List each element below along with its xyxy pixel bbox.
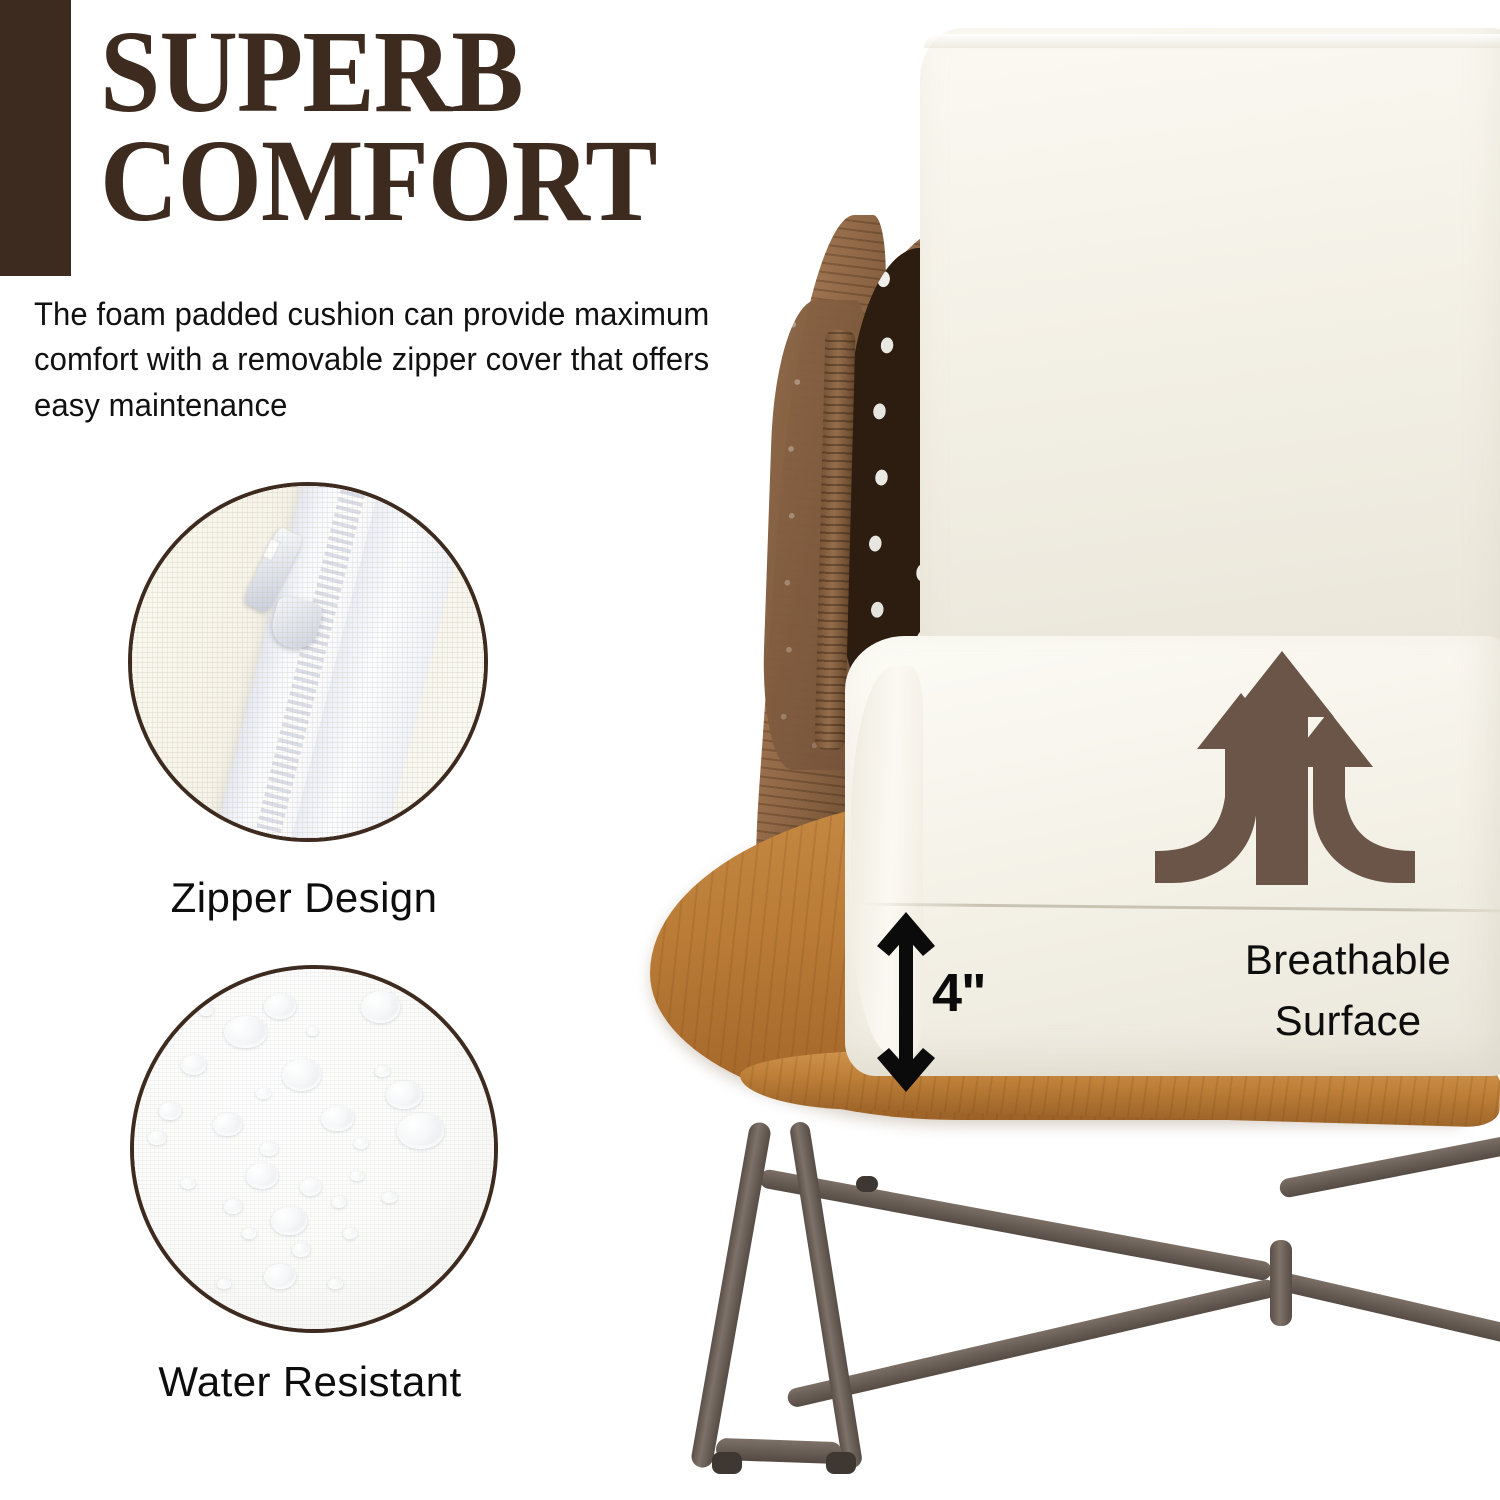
page-title: SUPERB COMFORT [100,18,670,235]
breathable-label-line-1: Breathable [1178,930,1500,991]
metal-brace-vertical-joint [1270,1240,1292,1326]
metal-brace-lower-right [1280,1272,1500,1347]
water-droplet [181,1055,206,1075]
thickness-value-label: 4" [932,962,986,1024]
breathable-surface-label: Breathable Surface [1178,930,1500,1052]
water-droplet [264,994,296,1019]
headline-line-2: COMFORT [100,127,670,236]
cream-back-cushion [920,28,1500,698]
feature-image-zipper [128,482,488,842]
double-headed-vertical-arrow-icon [875,912,937,1092]
water-droplet [159,1102,181,1120]
metal-brace-upper-left [758,1168,1273,1281]
water-droplet [224,1016,267,1048]
back-cushion-top-seam [924,34,1500,48]
water-droplet [397,1113,444,1149]
breathable-label-line-2: Surface [1178,991,1500,1052]
water-droplet [361,991,401,1023]
metal-foot-cap [856,1176,878,1192]
water-droplet [307,1027,318,1036]
water-droplet [246,1163,278,1188]
fabric-weave-texture [132,486,484,838]
feature-image-water-resistant [130,965,498,1333]
water-droplet [300,1178,322,1196]
water-droplet [292,1243,310,1257]
water-droplet [271,1207,307,1236]
water-droplet [181,1178,195,1189]
seat-cushion-seam [863,903,1500,913]
metal-foot-cap [826,1452,856,1474]
water-droplet [375,1066,389,1077]
metal-foot-cap [712,1452,742,1474]
water-droplet [199,1005,213,1016]
water-droplet [256,1088,270,1099]
water-droplet [224,1199,242,1213]
water-droplet [382,1192,396,1203]
water-droplet [328,1279,342,1290]
water-droplet [354,1138,368,1149]
water-droplet [213,1113,242,1136]
water-droplet [264,1264,296,1289]
water-fabric-weave-texture [134,969,494,1329]
water-droplet [260,1142,278,1156]
subheading-description: The foam padded cushion can provide maxi… [34,292,713,428]
water-droplet [321,1106,353,1131]
water-droplet [343,1228,357,1239]
three-upward-airflow-arrows-icon [1155,645,1415,890]
heading-accent-bar [0,0,71,276]
metal-leg-front-outer [690,1121,772,1470]
feature-label-zipper: Zipper Design [128,874,480,922]
metal-leg-front-inner [789,1121,864,1470]
metal-brace-lower-left [786,1278,1277,1409]
feature-label-water-resistant: Water Resistant [130,1358,490,1406]
water-droplet [386,1081,422,1110]
infographic-canvas: SUPERB COMFORT The foam padded cushion c… [0,0,1500,1500]
metal-brace-upper-right [1278,1131,1500,1199]
